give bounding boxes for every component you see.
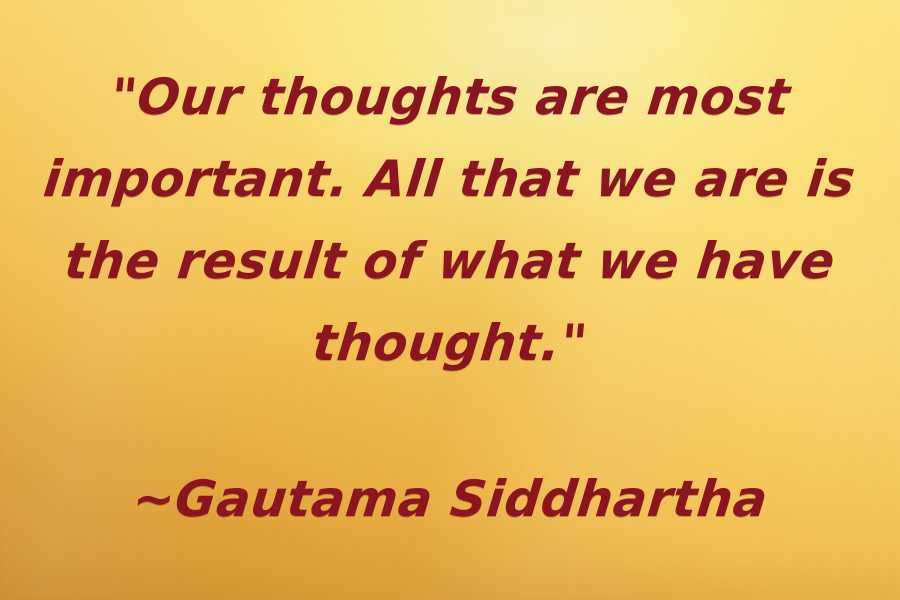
quote-attribution: ~Gautama Siddhartha [129, 468, 770, 530]
quote-line-3: the result of what we have [61, 220, 840, 302]
quote-line-2: important. All that we are is [40, 138, 860, 220]
quote-line-1: "Our thoughts are most [106, 56, 794, 138]
quote-image-canvas: "Our thoughts are most important. All th… [0, 0, 900, 600]
quote-text-block: "Our thoughts are most important. All th… [0, 0, 900, 600]
quote-line-4: thought." [309, 302, 592, 384]
